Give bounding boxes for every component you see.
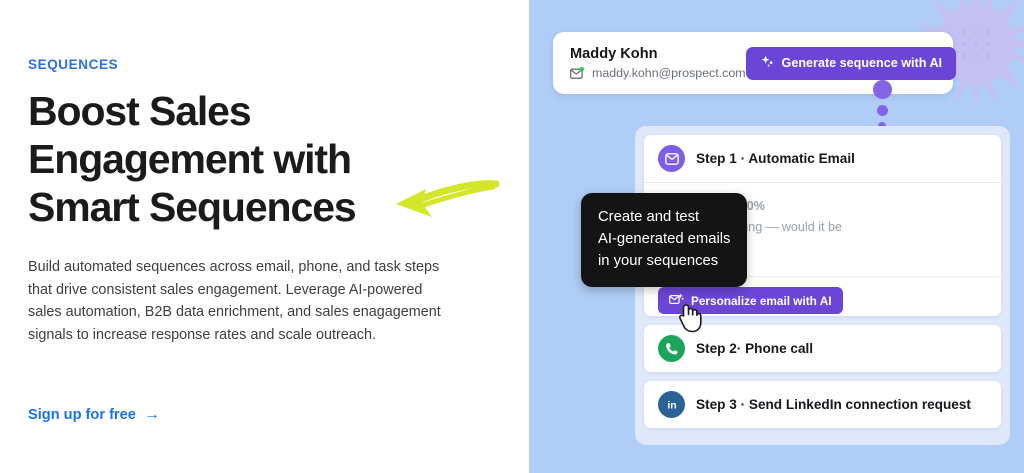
signup-link[interactable]: Sign up for free → — [28, 407, 160, 423]
generate-sequence-button[interactable]: Generate sequence with AI — [746, 47, 957, 80]
step-1-header: Step 1 · Automatic Email — [644, 135, 1001, 182]
connector-dot — [873, 80, 892, 99]
hero-description: Build automated sequences across email, … — [28, 256, 453, 346]
hero-left-column: SEQUENCES Boost Sales Engagement with Sm… — [0, 0, 529, 473]
personalize-email-label: Personalize email with AI — [691, 294, 832, 308]
step-1-label: Step 1 · Automatic Email — [696, 151, 855, 166]
page-root: SEQUENCES Boost Sales Engagement with Sm… — [0, 0, 1024, 473]
step-3-label: Step 3 · Send LinkedIn connection reques… — [696, 397, 971, 412]
linkedin-icon: in — [658, 391, 685, 418]
sparkle-icon — [760, 55, 774, 72]
svg-text:in: in — [667, 399, 676, 411]
feature-tooltip: Create and test AI-generated emails in y… — [581, 193, 747, 287]
signup-link-label: Sign up for free — [28, 407, 136, 423]
connector-dot — [877, 105, 888, 116]
page-title: Boost Sales Engagement with Smart Sequen… — [28, 87, 428, 231]
eyebrow-label: SEQUENCES — [28, 57, 529, 72]
prospect-info: Maddy Kohn maddy.kohn@prospect.com — [570, 46, 746, 80]
prospect-email-row: maddy.kohn@prospect.com — [570, 66, 746, 80]
generate-sequence-label: Generate sequence with AI — [782, 56, 943, 70]
envelope-icon — [658, 145, 685, 172]
phone-icon — [658, 335, 685, 362]
step-2-label: Step 2· Phone call — [696, 341, 813, 356]
arrow-right-icon: → — [144, 407, 160, 423]
hand-pointer-cursor — [675, 300, 705, 334]
step-3-header: in Step 3 · Send LinkedIn connection req… — [644, 381, 1001, 428]
envelope-icon — [570, 67, 585, 80]
sequence-step-3[interactable]: in Step 3 · Send LinkedIn connection req… — [644, 381, 1001, 428]
prospect-name: Maddy Kohn — [570, 46, 746, 62]
prospect-email: maddy.kohn@prospect.com — [592, 66, 746, 80]
